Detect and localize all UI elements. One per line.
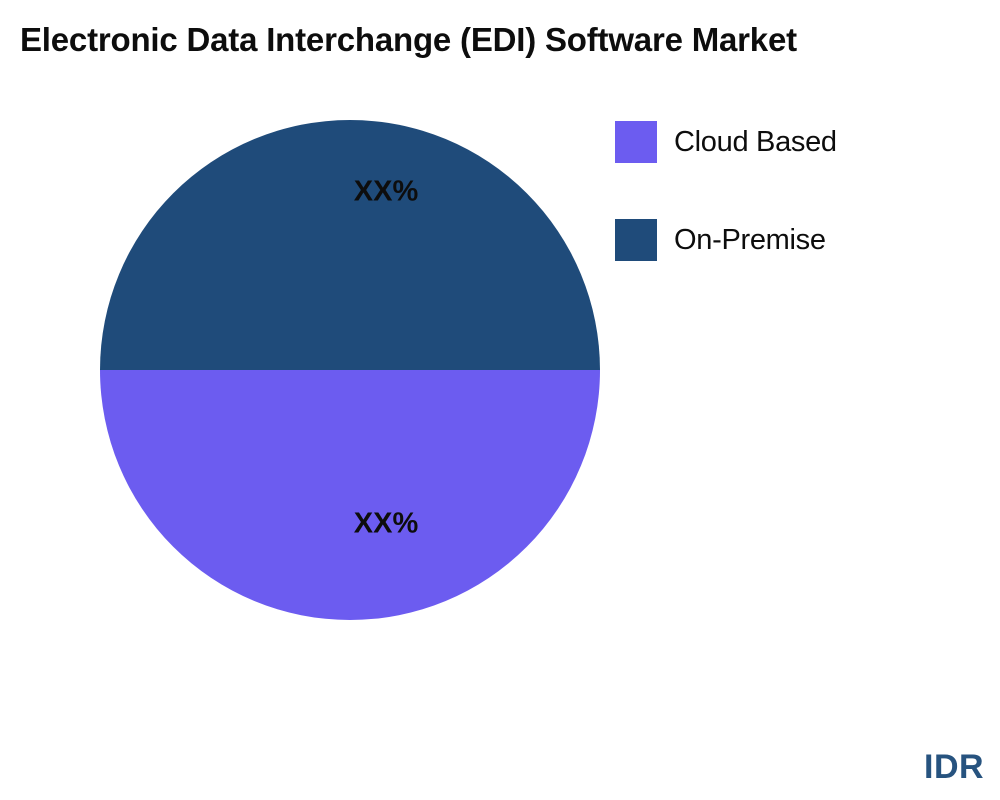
legend-item-on-premise[interactable]: On-Premise [615, 219, 985, 317]
legend-color-swatch-on-premise [615, 219, 657, 261]
legend-item-cloud-based[interactable]: Cloud Based [615, 121, 985, 219]
chart-canvas: Electronic Data Interchange (EDI) Softwa… [0, 0, 1000, 800]
legend-label-on-premise: On-Premise [674, 219, 826, 261]
pie-slice-on-premise[interactable] [100, 120, 600, 370]
page-title: Electronic Data Interchange (EDI) Softwa… [20, 22, 1000, 58]
pie-slice-label-cloud-based: XX% [354, 508, 418, 541]
pie-chart: XX% XX% [100, 120, 600, 620]
legend-label-cloud-based: Cloud Based [674, 121, 837, 163]
chart-legend: Cloud Based On-Premise [615, 121, 985, 317]
watermark-logo: IDR [924, 748, 984, 787]
legend-color-swatch-cloud-based [615, 121, 657, 163]
pie-slice-label-on-premise: XX% [354, 176, 418, 209]
pie-slice-cloud-based[interactable] [100, 370, 600, 620]
pie-chart-svg [100, 120, 600, 620]
